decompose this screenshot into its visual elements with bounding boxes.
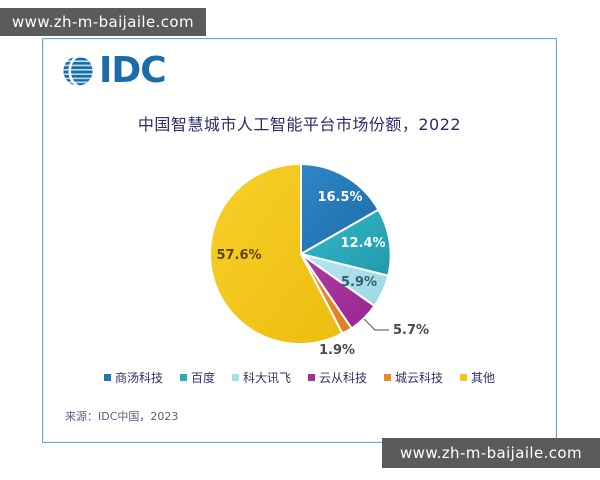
idc-logo: IDC: [61, 53, 166, 89]
legend-label-iflytek: 科大讯飞: [243, 369, 291, 386]
legend-label-chengyun: 城云科技: [395, 369, 443, 386]
chart-title: 中国智慧城市人工智能平台市场份额，2022: [43, 111, 556, 135]
legend-swatch-shangtang: [104, 374, 111, 381]
pie-label-chengyun: 1.9%: [318, 343, 354, 358]
leader-line-yuncong: [364, 319, 389, 330]
idc-globe-icon: [61, 54, 95, 88]
legend-swatch-yuncong: [308, 374, 315, 381]
legend-item-chengyun[interactable]: 城云科技: [384, 369, 443, 386]
legend-item-baidu[interactable]: 百度: [180, 369, 215, 386]
legend-swatch-chengyun: [384, 374, 391, 381]
pie-label-yuncong: 5.7%: [393, 323, 429, 338]
legend-item-iflytek[interactable]: 科大讯飞: [232, 369, 291, 386]
source-note: 来源：IDC中国，2023: [65, 408, 178, 424]
pie-leader-lines: [364, 319, 389, 330]
legend-swatch-iflytek: [232, 374, 239, 381]
idc-wordmark: IDC: [99, 53, 166, 89]
pie-label-iflytek: 5.9%: [340, 275, 376, 290]
pie-chart: 16.5% 12.4% 5.9% 5.7% 1.9% 57.6%: [43, 147, 558, 362]
legend-item-shangtang[interactable]: 商汤科技: [104, 369, 163, 386]
legend-label-others: 其他: [471, 369, 495, 386]
report-card: IDC 中国智慧城市人工智能平台市场份额，2022: [42, 38, 557, 443]
chart-legend: 商汤科技 百度 科大讯飞 云从科技 城云科技 其他: [43, 369, 556, 386]
legend-item-others[interactable]: 其他: [460, 369, 495, 386]
legend-item-yuncong[interactable]: 云从科技: [308, 369, 367, 386]
legend-label-yuncong: 云从科技: [319, 369, 367, 386]
legend-label-baidu: 百度: [191, 369, 215, 386]
pie-label-baidu: 12.4%: [340, 236, 385, 251]
watermark-top: www.zh-m-baijaile.com: [0, 8, 206, 36]
watermark-bottom: www.zh-m-baijaile.com: [382, 438, 600, 468]
pie-label-shangtang: 16.5%: [317, 190, 362, 205]
legend-swatch-baidu: [180, 374, 187, 381]
legend-swatch-others: [460, 374, 467, 381]
legend-label-shangtang: 商汤科技: [115, 369, 163, 386]
pie-label-others: 57.6%: [216, 248, 261, 263]
